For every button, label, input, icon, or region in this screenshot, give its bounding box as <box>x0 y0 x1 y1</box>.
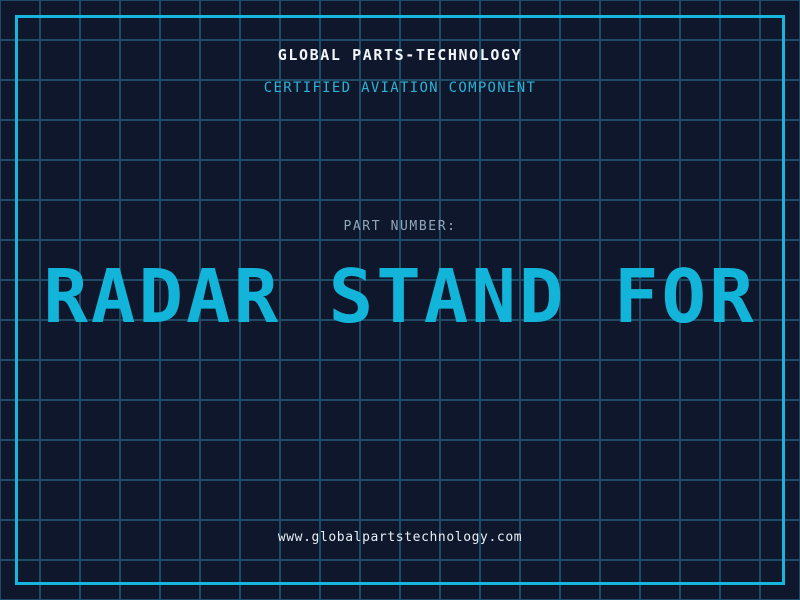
certificate-card: GLOBAL PARTS-TECHNOLOGY CERTIFIED AVIATI… <box>0 0 800 600</box>
part-number-label: PART NUMBER: <box>0 219 800 234</box>
header: GLOBAL PARTS-TECHNOLOGY CERTIFIED AVIATI… <box>0 44 800 98</box>
part-number-value: RADAR STAND FOR <box>0 258 800 336</box>
footer-website-url: www.globalpartstechnology.com <box>0 530 800 545</box>
brand-subtitle: CERTIFIED AVIATION COMPONENT <box>0 78 800 98</box>
brand-title: GLOBAL PARTS-TECHNOLOGY <box>0 44 800 66</box>
